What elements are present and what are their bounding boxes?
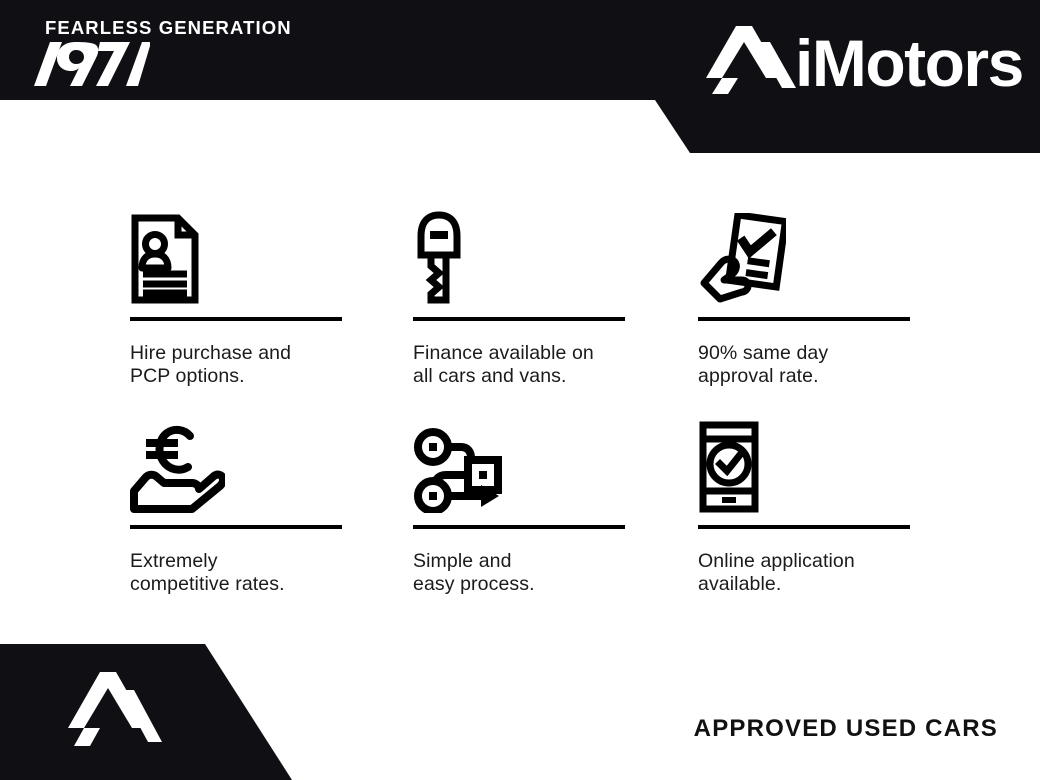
features-row-2: Extremely competitive rates. [0,403,1040,611]
poster-canvas: FEARLESS GENERATION iMotors [0,0,1040,780]
feature-divider [130,317,342,321]
feature-caption: Simple and easy process. [413,550,625,595]
euro-in-hand-icon [130,403,342,513]
header-tagline: FEARLESS GENERATION [45,17,292,39]
smartphone-check-icon [698,403,910,513]
feature-caption: Hire purchase and PCP options. [130,342,342,387]
feature-item-simple-process: Simple and easy process. [413,403,625,595]
imotors-chevron-logo-icon [700,16,800,108]
process-flowchart-icon [413,403,625,513]
feature-divider [413,317,625,321]
feature-item-finance-available: Finance available on all cars and vans. [413,195,625,387]
footer-imotors-chevron-logo-icon [62,662,166,764]
hand-holding-checklist-icon [698,195,910,305]
year-1971-mark [30,40,150,88]
feature-caption: Online application available. [698,550,910,595]
brand-name: iMotors [795,28,1023,98]
features-grid: Hire purchase and PCP options. Finance a… [0,195,1040,611]
footer-tagline: APPROVED USED CARS [694,715,998,743]
feature-caption: 90% same day approval rate. [698,342,910,387]
feature-item-online-application: Online application available. [698,403,910,595]
feature-item-hire-purchase: Hire purchase and PCP options. [130,195,342,387]
feature-item-approval-rate: 90% same day approval rate. [698,195,910,387]
feature-caption: Extremely competitive rates. [130,550,342,595]
document-person-icon [130,195,342,305]
car-key-icon [413,195,625,305]
feature-item-competitive-rates: Extremely competitive rates. [130,403,342,595]
feature-divider [698,525,910,529]
feature-caption: Finance available on all cars and vans. [413,342,625,387]
features-row-1: Hire purchase and PCP options. Finance a… [0,195,1040,403]
feature-divider [698,317,910,321]
feature-divider [130,525,342,529]
feature-divider [413,525,625,529]
